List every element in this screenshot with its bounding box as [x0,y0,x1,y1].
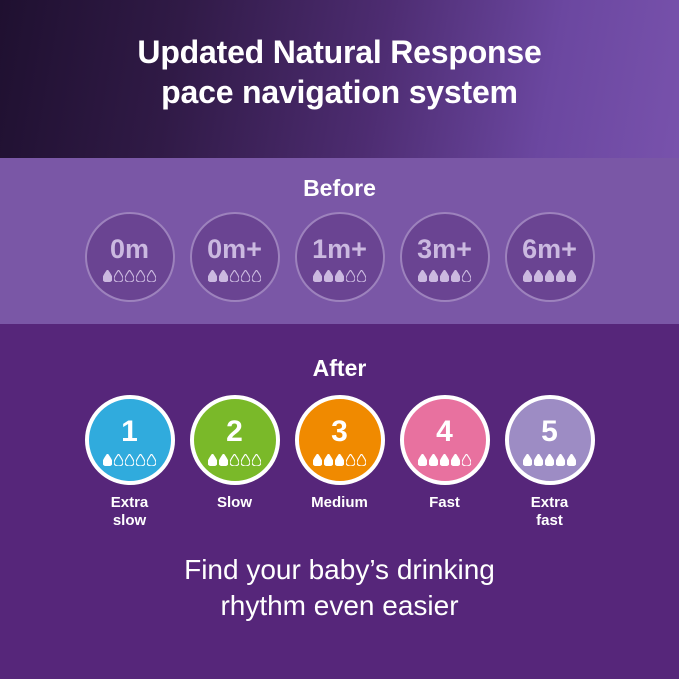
before-age-circle[interactable]: 6m+ [505,212,595,302]
droplet-filled-icon [534,270,543,282]
after-heading: After [0,355,679,382]
droplet-filled-icon [567,454,576,466]
before-age-label: 3m+ [417,236,472,263]
after-pace-circle[interactable]: 2 [190,395,280,485]
droplet-filled-icon [103,270,112,282]
droplet-filled-icon [418,270,427,282]
header-banner: Updated Natural Response pace navigation… [0,0,679,158]
before-age-label: 0m [110,236,149,263]
droplet-empty-icon [136,454,145,466]
droplet-filled-icon [556,454,565,466]
droplet-rating [418,454,471,466]
droplet-rating [313,270,366,282]
droplet-filled-icon [418,454,427,466]
footer-tagline-line-2: rhythm even easier [0,588,679,624]
before-heading: Before [0,175,679,202]
after-pace-label: Extrafast [500,494,600,530]
after-item[interactable]: 2Slow [190,395,280,512]
droplet-empty-icon [114,270,123,282]
after-item[interactable]: 4Fast [400,395,490,512]
droplet-empty-icon [346,270,355,282]
before-age-circle[interactable]: 0m+ [190,212,280,302]
before-age-circle[interactable]: 0m [85,212,175,302]
after-pace-label-line: slow [80,512,180,530]
before-section: Before 0m0m+1m+3m+6m+ [0,158,679,324]
droplet-empty-icon [252,454,261,466]
droplet-filled-icon [451,270,460,282]
after-pace-number: 2 [226,417,243,447]
droplet-filled-icon [556,270,565,282]
after-pace-number: 3 [331,417,348,447]
after-pace-label-line: Fast [395,494,495,512]
after-pace-label-line: fast [500,512,600,530]
droplet-empty-icon [136,270,145,282]
droplet-filled-icon [219,270,228,282]
droplet-empty-icon [114,454,123,466]
droplet-filled-icon [440,270,449,282]
droplet-empty-icon [125,454,134,466]
before-age-label: 0m+ [207,236,262,263]
droplet-empty-icon [125,270,134,282]
droplet-filled-icon [335,454,344,466]
droplet-filled-icon [534,454,543,466]
after-pace-circle[interactable]: 3 [295,395,385,485]
after-item[interactable]: 3Medium [295,395,385,512]
droplet-filled-icon [103,454,112,466]
before-item[interactable]: 1m+ [295,212,385,302]
droplet-filled-icon [429,454,438,466]
droplet-rating [103,270,156,282]
page-title-line-1: Updated Natural Response [0,32,679,72]
droplet-filled-icon [523,270,532,282]
before-item[interactable]: 6m+ [505,212,595,302]
droplet-empty-icon [147,454,156,466]
droplet-filled-icon [313,270,322,282]
after-pace-label: Fast [395,494,495,512]
droplet-rating [208,454,261,466]
footer-tagline: Find your baby’s drinking rhythm even ea… [0,552,679,624]
droplet-rating [418,270,471,282]
after-pace-number: 4 [436,417,453,447]
page-title-line-2: pace navigation system [0,72,679,112]
droplet-empty-icon [241,454,250,466]
after-pace-label: Medium [290,494,390,512]
after-pace-label-line: Extra [80,494,180,512]
droplet-filled-icon [335,270,344,282]
droplet-filled-icon [545,270,554,282]
droplet-empty-icon [357,270,366,282]
after-item[interactable]: 1Extraslow [85,395,175,530]
droplet-rating [523,270,576,282]
droplet-filled-icon [208,270,217,282]
droplet-empty-icon [147,270,156,282]
before-row: 0m0m+1m+3m+6m+ [0,212,679,302]
before-age-label: 6m+ [522,236,577,263]
after-pace-label: Extraslow [80,494,180,530]
droplet-filled-icon [324,270,333,282]
after-item[interactable]: 5Extrafast [505,395,595,530]
droplet-empty-icon [462,454,471,466]
droplet-empty-icon [252,270,261,282]
droplet-filled-icon [523,454,532,466]
before-item[interactable]: 0m [85,212,175,302]
droplet-filled-icon [208,454,217,466]
droplet-filled-icon [324,454,333,466]
droplet-rating [208,270,261,282]
before-item[interactable]: 3m+ [400,212,490,302]
after-pace-circle[interactable]: 4 [400,395,490,485]
droplet-empty-icon [346,454,355,466]
before-age-label: 1m+ [312,236,367,263]
droplet-rating [313,454,366,466]
after-pace-label: Slow [185,494,285,512]
after-pace-number: 1 [121,417,138,447]
footer-tagline-line-1: Find your baby’s drinking [0,552,679,588]
after-section: After 1Extraslow2Slow3Medium4Fast5Extraf… [0,324,679,679]
after-pace-label-line: Slow [185,494,285,512]
after-pace-circle[interactable]: 1 [85,395,175,485]
droplet-empty-icon [357,454,366,466]
droplet-filled-icon [440,454,449,466]
droplet-filled-icon [219,454,228,466]
before-item[interactable]: 0m+ [190,212,280,302]
after-pace-circle[interactable]: 5 [505,395,595,485]
droplet-empty-icon [241,270,250,282]
droplet-empty-icon [462,270,471,282]
droplet-filled-icon [567,270,576,282]
droplet-filled-icon [451,454,460,466]
before-age-circle[interactable]: 3m+ [400,212,490,302]
droplet-filled-icon [313,454,322,466]
droplet-empty-icon [230,270,239,282]
page-title: Updated Natural Response pace navigation… [0,32,679,112]
droplet-empty-icon [230,454,239,466]
droplet-filled-icon [429,270,438,282]
after-pace-label-line: Extra [500,494,600,512]
after-row: 1Extraslow2Slow3Medium4Fast5Extrafast [0,395,679,530]
before-age-circle[interactable]: 1m+ [295,212,385,302]
after-pace-label-line: Medium [290,494,390,512]
infographic-poster: Updated Natural Response pace navigation… [0,0,679,679]
droplet-filled-icon [545,454,554,466]
after-pace-number: 5 [541,417,558,447]
droplet-rating [103,454,156,466]
droplet-rating [523,454,576,466]
